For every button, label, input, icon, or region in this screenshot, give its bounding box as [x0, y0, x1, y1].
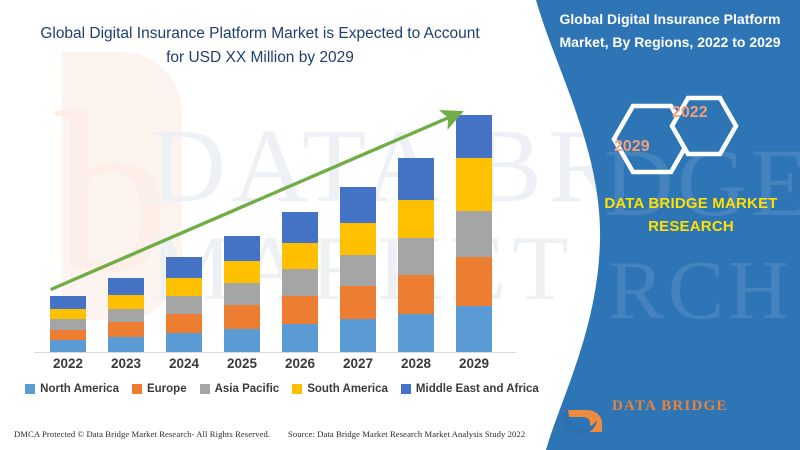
legend-label: North America: [40, 383, 119, 395]
bar-segment-middle-east-and-africa: [398, 158, 434, 199]
hexagon-label-2022: 2022: [672, 104, 708, 122]
bar-segment-middle-east-and-africa: [456, 115, 492, 158]
legend-item-north-america[interactable]: North America: [25, 383, 119, 395]
legend-item-asia-pacific[interactable]: Asia Pacific: [200, 383, 280, 395]
bar-segment-asia-pacific: [224, 283, 260, 305]
bar-segment-europe: [282, 296, 318, 325]
legend-swatch-icon: [401, 384, 411, 394]
legend-swatch-icon: [292, 384, 302, 394]
bar-segment-middle-east-and-africa: [340, 187, 376, 223]
x-axis-label-2022: 2022: [38, 356, 98, 371]
x-axis-label-2025: 2025: [212, 356, 272, 371]
bar-column: [166, 257, 202, 352]
bar-segment-middle-east-and-africa: [166, 257, 202, 278]
bar-segment-europe: [166, 314, 202, 333]
bar-segment-north-america: [282, 324, 318, 352]
bar-column: [398, 158, 434, 352]
bar-segment-europe: [50, 330, 86, 341]
brand-line-1: DATA BRIDGE MARKET: [604, 195, 777, 212]
footer-source: Source: Data Bridge Market Research Mark…: [288, 429, 525, 439]
bar-segment-north-america: [340, 319, 376, 352]
legend-swatch-icon: [25, 384, 35, 394]
bar-column: [108, 278, 144, 352]
bar-segment-north-america: [50, 340, 86, 352]
bar-segment-middle-east-and-africa: [224, 236, 260, 261]
bar-segment-middle-east-and-africa: [282, 212, 318, 243]
bar-segment-asia-pacific: [108, 309, 144, 323]
bar-segment-north-america: [398, 314, 434, 352]
brand-line-2: RESEARCH: [648, 218, 734, 235]
legend-item-europe[interactable]: Europe: [132, 383, 187, 395]
bar-segment-asia-pacific: [398, 238, 434, 275]
legend-label: South America: [307, 383, 388, 395]
bar-segment-asia-pacific: [50, 319, 86, 330]
x-axis-label-2027: 2027: [328, 356, 388, 371]
footer-copyright: DMCA Protected © Data Bridge Market Rese…: [14, 429, 270, 439]
x-axis-label-2023: 2023: [96, 356, 156, 371]
bar-segment-middle-east-and-africa: [108, 278, 144, 295]
bar-segment-europe: [398, 275, 434, 314]
bar-segment-north-america: [224, 329, 260, 352]
x-axis-label-2028: 2028: [386, 356, 446, 371]
bar-segment-south-america: [456, 158, 492, 211]
bar-segment-asia-pacific: [166, 296, 202, 314]
chart-legend: North AmericaEuropeAsia PacificSouth Ame…: [22, 383, 542, 395]
logo-tagline: MARKET RESEARCH: [613, 414, 727, 423]
legend-item-middle-east-and-africa[interactable]: Middle East and Africa: [401, 383, 539, 395]
bar-segment-asia-pacific: [456, 211, 492, 256]
legend-swatch-icon: [200, 384, 210, 394]
legend-swatch-icon: [132, 384, 142, 394]
bar-column: [456, 115, 492, 352]
x-axis-label-2024: 2024: [154, 356, 214, 371]
hexagon-label-2029: 2029: [614, 138, 650, 156]
stacked-bar-chart: 20222023202420252026202720282029: [0, 0, 540, 400]
logo-wordmark: DATA BRIDGE: [612, 398, 728, 415]
bar-segment-south-america: [282, 243, 318, 269]
bar-column: [340, 187, 376, 352]
infographic-canvas: b DATA BRI MARKET DGE RCH Global Digital…: [0, 0, 800, 450]
bar-column: [224, 236, 260, 352]
bar-segment-europe: [340, 286, 376, 319]
x-axis-label-2026: 2026: [270, 356, 330, 371]
bar-column: [50, 296, 86, 352]
bar-segment-north-america: [108, 337, 144, 352]
brand-name: DATA BRIDGE MARKET RESEARCH: [586, 192, 796, 238]
svg-text:RCH: RCH: [608, 244, 793, 337]
bar-segment-south-america: [398, 200, 434, 238]
bar-segment-south-america: [108, 295, 144, 309]
bar-segment-europe: [108, 322, 144, 337]
bar-segment-south-america: [166, 278, 202, 296]
bar-column: [282, 212, 318, 352]
x-axis-label-2029: 2029: [444, 356, 504, 371]
bar-segment-south-america: [340, 223, 376, 255]
bar-segment-north-america: [456, 306, 492, 351]
bar-segment-asia-pacific: [340, 255, 376, 287]
panel-title: Global Digital Insurance Platform Market…: [548, 8, 792, 54]
bar-segment-north-america: [166, 333, 202, 352]
legend-label: Middle East and Africa: [416, 383, 539, 395]
bar-segment-europe: [224, 305, 260, 328]
legend-label: Europe: [147, 383, 187, 395]
bar-segment-europe: [456, 257, 492, 307]
bar-segment-middle-east-and-africa: [50, 296, 86, 309]
bar-segment-asia-pacific: [282, 269, 318, 295]
legend-item-south-america[interactable]: South America: [292, 383, 388, 395]
bar-segment-south-america: [224, 261, 260, 283]
bar-segment-south-america: [50, 309, 86, 320]
legend-label: Asia Pacific: [215, 383, 280, 395]
